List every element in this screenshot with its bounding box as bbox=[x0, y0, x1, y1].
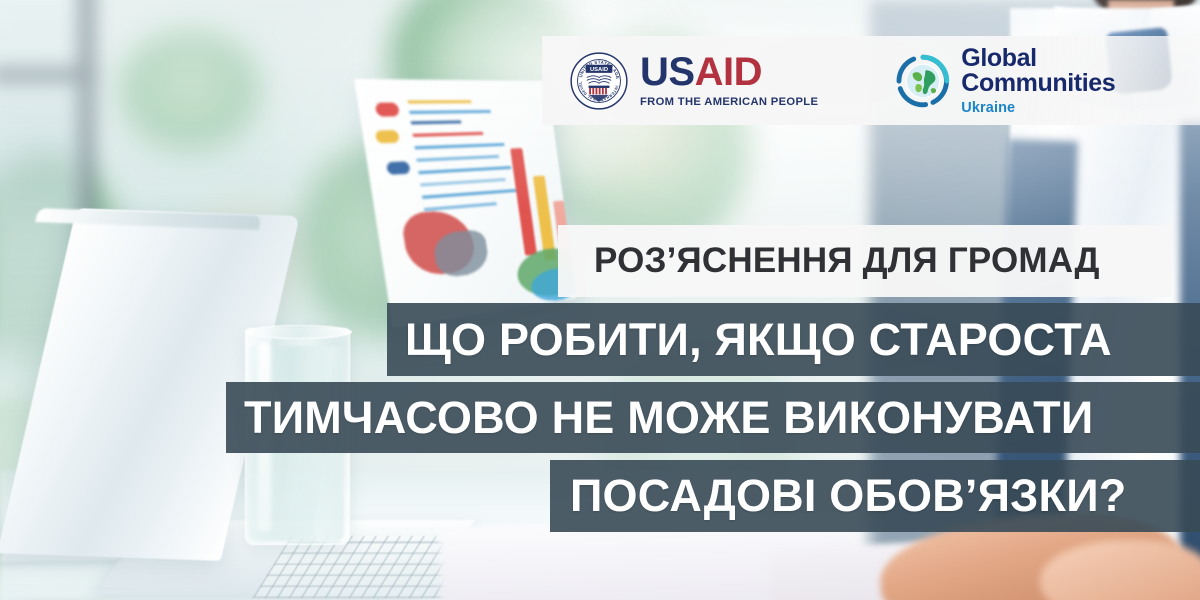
headline-line1-text: ЩО РОБИТИ, ЯКЩО СТАРОСТА bbox=[405, 314, 1112, 366]
headline-line1-bar: ЩО РОБИТИ, ЯКЩО СТАРОСТА bbox=[387, 303, 1200, 376]
headline-kicker-text: РОЗ’ЯСНЕННЯ ДЛЯ ГРОМАД bbox=[594, 241, 1100, 281]
chart-line-8 bbox=[420, 178, 506, 187]
usaid-wordmark: USAID FROM THE AMERICAN PEOPLE bbox=[640, 52, 818, 108]
usaid-word-aid: AID bbox=[695, 50, 762, 94]
chart-dot-yellow bbox=[375, 130, 400, 143]
headline-line2-text: ТИМЧАСОВО НЕ МОЖЕ ВИКОНУВАТИ bbox=[244, 392, 1093, 444]
chart-dot-red bbox=[375, 103, 400, 117]
chart-dot-blue bbox=[386, 161, 410, 175]
usaid-seal-icon: UNITED STATES AGENCY INTERNATIONAL DEVEL… bbox=[570, 52, 628, 110]
headline-line3-text: ПОСАДОВІ ОБОВ’ЯЗКИ? bbox=[570, 470, 1126, 522]
usaid-logo: UNITED STATES AGENCY INTERNATIONAL DEVEL… bbox=[570, 52, 818, 110]
window-mullion-horizontal bbox=[0, 68, 98, 82]
chart-line-9 bbox=[422, 189, 516, 199]
headline-line3-bar: ПОСАДОВІ ОБОВ’ЯЗКИ? bbox=[550, 460, 1200, 532]
chart-bar-red bbox=[510, 148, 537, 256]
usaid-tagline: FROM THE AMERICAN PEOPLE bbox=[640, 97, 818, 108]
gc-line-1: Global bbox=[961, 46, 1115, 71]
logo-bar: UNITED STATES AGENCY INTERNATIONAL DEVEL… bbox=[542, 36, 1200, 125]
water-glass-rim bbox=[245, 325, 352, 339]
gc-line-2: Communities bbox=[961, 71, 1115, 96]
chart-line-7 bbox=[418, 166, 511, 174]
poster-canvas: UNITED STATES AGENCY INTERNATIONAL DEVEL… bbox=[0, 0, 1200, 600]
global-communities-logo: Global Communities Ukraine bbox=[896, 46, 1115, 116]
gc-country-label: Ukraine bbox=[961, 101, 1115, 116]
svg-text:USAID: USAID bbox=[590, 67, 608, 73]
chart-line-1 bbox=[408, 100, 472, 103]
usaid-word-us: US bbox=[640, 50, 695, 94]
global-communities-wordmark: Global Communities Ukraine bbox=[961, 46, 1115, 116]
headline-line2-bar: ТИМЧАСОВО НЕ МОЖЕ ВИКОНУВАТИ bbox=[226, 382, 1200, 453]
chart-line-3 bbox=[411, 120, 462, 124]
usaid-wordmark-text: USAID bbox=[640, 52, 818, 92]
chart-line-6 bbox=[416, 155, 499, 162]
chart-line-10 bbox=[424, 202, 497, 211]
headline-kicker-bar: РОЗ’ЯСНЕННЯ ДЛЯ ГРОМАД bbox=[558, 225, 1172, 297]
chart-line-2 bbox=[409, 110, 491, 114]
plant-blur-2 bbox=[120, 30, 260, 150]
chart-line-5 bbox=[414, 143, 504, 149]
chart-line-4 bbox=[413, 132, 484, 137]
globe-icon bbox=[896, 54, 950, 108]
